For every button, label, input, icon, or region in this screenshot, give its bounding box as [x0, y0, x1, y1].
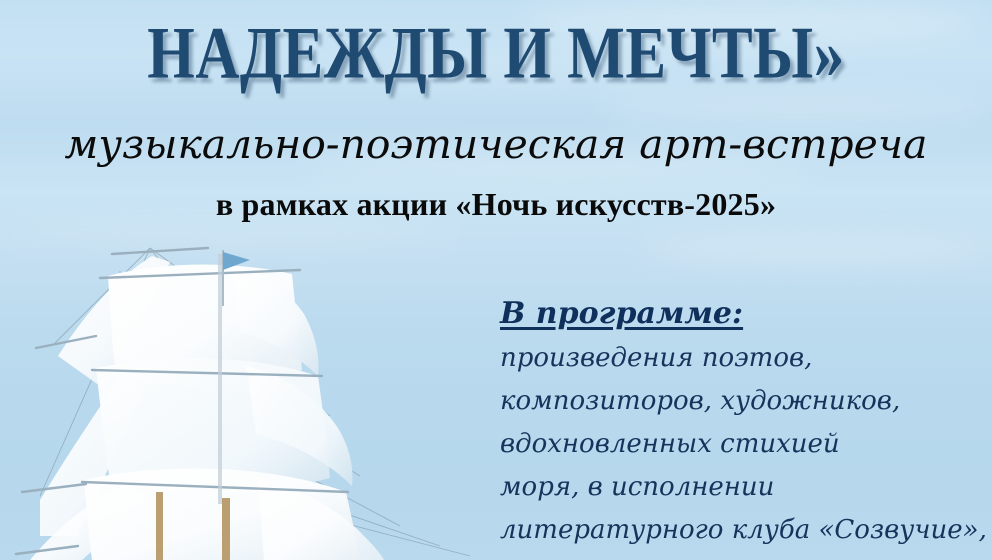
page-title: НАДЕЖДЫ И МЕЧТЫ»: [15, 10, 977, 96]
subtitle-campaign: в рамках акции «Ночь искусств-2025»: [0, 186, 992, 223]
cloud-streak: [600, 96, 992, 122]
program-line: произведения поэтов,: [500, 337, 992, 380]
program-block: В программе: произведения поэтов, композ…: [494, 296, 992, 552]
program-line: композиторов, художников,: [500, 380, 992, 423]
program-line: моря, в исполнении: [500, 466, 992, 509]
program-line: вдохновленных стихией: [500, 423, 992, 466]
cloud-streak: [640, 236, 992, 264]
sailing-ship-illustration: [0, 236, 480, 560]
subtitle-event-type: музыкально-поэтическая арт-встреча: [0, 122, 992, 168]
poster-canvas: НАДЕЖДЫ И МЕЧТЫ» музыкально-поэтическая …: [0, 0, 992, 560]
program-heading: В программе:: [500, 296, 992, 331]
program-line: литературного клуба «Созвучие»,: [500, 509, 992, 552]
